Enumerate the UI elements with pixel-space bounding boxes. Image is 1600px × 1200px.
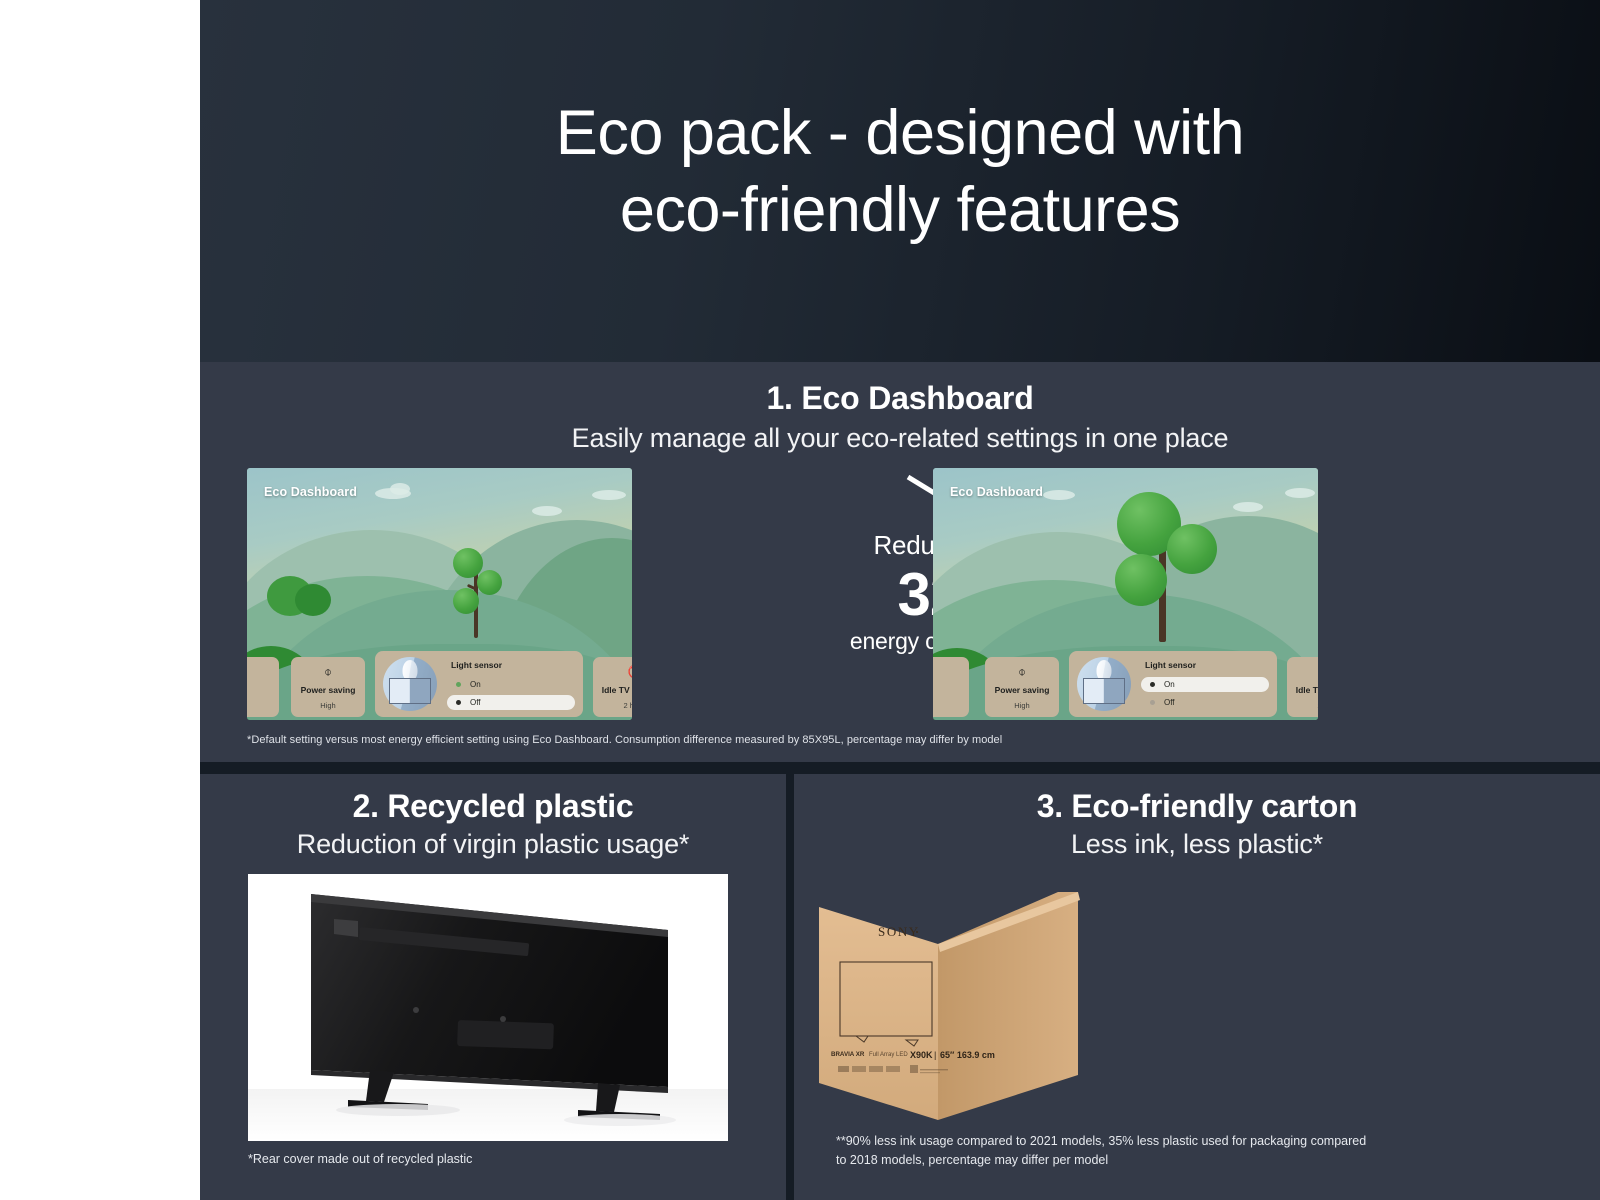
svg-text:Full Array LED: Full Array LED [869,1052,908,1058]
bulb-panel [389,678,431,704]
section2-footnote: *Rear cover made out of recycled plastic [248,1152,472,1166]
card-idle-title: Idle TV power off [593,685,632,695]
carton-box-illustration: SONY BRAVIA XR Full Array LED X90K | 65″… [794,870,1600,1120]
idle-tv-power-off-icon: 🚫 [593,665,632,678]
tv-screenshot-default: Eco Dashboard ⌽ Power saving High [247,468,632,720]
tree-foliage [453,588,479,614]
svg-text:SONY: SONY [878,924,920,939]
card-idle-tv-power-off[interactable]: 🚫 Idle TV power off 2 hours [593,657,632,717]
section-eco-carton: 3. Eco-friendly carton Less ink, less pl… [794,774,1600,1200]
section1-footnote: *Default setting versus most energy effi… [247,734,1567,746]
radio-dot-icon [456,700,461,705]
section3-footnote: **90% less ink usage compared to 2021 mo… [836,1132,1556,1170]
tree-foliage [453,548,483,578]
card-idle-title: Idle TV power off [1287,685,1318,695]
tv-comparison-row: Eco Dashboard ⌽ Power saving High [200,468,1600,726]
cloud-icon [1043,490,1075,500]
light-sensor-option-on-label: On [1164,680,1175,689]
tree-icon-large [1103,492,1233,642]
light-sensor-title: Light sensor [451,660,502,670]
card-power-saving-value: High [291,701,365,710]
eco-settings-cards-left: ⌽ Power saving High Light sensor [247,652,632,720]
section3-footnote-line-2: to 2018 models, percentage may differ pe… [836,1151,1556,1170]
card-power-saving-title: Power saving [985,685,1059,695]
light-bulb-icon [383,657,437,711]
section-recycled-plastic: 2. Recycled plastic Reduction of virgin … [200,774,786,1200]
tv-screenshot-eco: Eco Dashboard ⌽ Power saving High [933,468,1318,720]
radio-dot-icon [1150,700,1155,705]
card-power-saving[interactable]: ⌽ Power saving High [291,657,365,717]
cloud-icon [532,506,562,516]
section3-subheading: Less ink, less plastic* [794,829,1600,860]
eco-dashboard-screen-label: Eco Dashboard [264,485,357,499]
section3-heading: 3. Eco-friendly carton [794,774,1600,825]
section-divider-vertical [786,762,794,1200]
card-light-sensor[interactable]: Light sensor On Off [1069,651,1277,717]
hero-banner: Eco pack - designed with eco-friendly fe… [200,0,1600,362]
card-idle-value: 2 hours [1287,701,1318,710]
svg-text:X90K: X90K [910,1050,933,1060]
eco-dashboard-screen-label: Eco Dashboard [950,485,1043,499]
svg-text:|: | [934,1050,936,1060]
section-eco-dashboard: 1. Eco Dashboard Easily manage all your … [200,362,1600,762]
power-saving-icon: ⌽ [291,665,365,678]
section1-subheading: Easily manage all your eco-related setti… [200,423,1600,454]
light-sensor-option-off[interactable]: Off [447,695,575,710]
section1-heading: 1. Eco Dashboard [200,362,1600,417]
cloud-icon [1285,488,1315,498]
power-saving-icon: ⌽ [985,665,1059,678]
svg-text:BRAVIA XR: BRAVIA XR [831,1051,865,1058]
section3-footnote-line-1: **90% less ink usage compared to 2021 mo… [836,1132,1556,1151]
light-sensor-option-off-label: Off [1164,698,1175,707]
hero-title-line-1: Eco pack - designed with [370,95,1430,172]
svg-text:65″ 163.9 cm: 65″ 163.9 cm [940,1050,995,1060]
card-idle-value: 2 hours [593,701,632,710]
card-light-sensor[interactable]: Light sensor On Off [375,651,583,717]
section2-subheading: Reduction of virgin plastic usage* [200,829,786,860]
bulb-panel [1083,678,1125,704]
light-sensor-option-on[interactable]: On [447,677,575,692]
card-power-saving-value: High [985,701,1059,710]
light-sensor-option-on[interactable]: On [1141,677,1269,692]
bush-shape [295,584,331,616]
radio-dot-icon [456,682,461,687]
tree-foliage [1167,524,1217,574]
hero-title-line-2: eco-friendly features [370,172,1430,249]
eco-pack-infographic: Eco pack - designed with eco-friendly fe… [0,0,1600,1200]
light-bulb-icon [1077,657,1131,711]
section2-heading: 2. Recycled plastic [200,774,786,825]
tree-foliage [1115,554,1167,606]
cloud-icon [390,483,410,495]
card-idle-tv-power-off[interactable]: 🚫 Idle TV power off 2 hours [1287,657,1318,717]
section-divider-horizontal [200,762,1600,774]
light-sensor-option-off-label: Off [470,698,481,707]
card-partial-left[interactable] [247,657,279,717]
tree-icon [443,548,513,638]
cloud-icon [592,490,626,500]
eco-settings-cards-right: ⌽ Power saving High Light sensor [933,652,1318,720]
card-power-saving-title: Power saving [291,685,365,695]
page-title: Eco pack - designed with eco-friendly fe… [370,95,1430,249]
tv-rear-photo [248,874,728,1141]
light-sensor-title: Light sensor [1145,660,1196,670]
cloud-icon [1233,502,1263,512]
light-sensor-option-on-label: On [470,680,481,689]
idle-tv-power-off-icon: 🚫 [1287,665,1318,678]
tree-foliage [477,570,502,595]
radio-dot-icon [1150,682,1155,687]
card-partial-left[interactable] [933,657,969,717]
card-power-saving[interactable]: ⌽ Power saving High [985,657,1059,717]
light-sensor-option-off[interactable]: Off [1141,695,1269,710]
